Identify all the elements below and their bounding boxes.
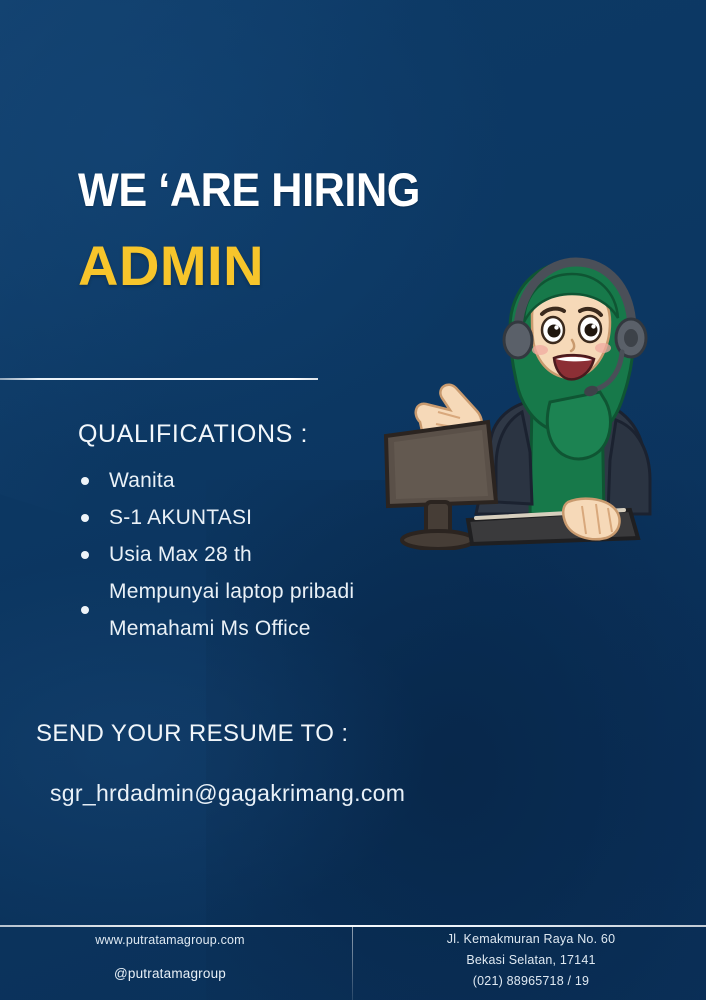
footer-divider <box>0 925 706 927</box>
footer-phone: (021) 88965718 / 19 <box>356 971 706 992</box>
bullet-icon <box>81 477 89 485</box>
resume-email-address[interactable]: sgr_hrdadmin@gagakrimang.com <box>50 780 405 807</box>
qualifications-heading: QUALIFICATIONS : <box>78 420 308 449</box>
footer-address-column: Jl. Kemakmuran Raya No. 60 Bekasi Selata… <box>356 929 706 992</box>
page-title: WE ‘ARE HIRING <box>78 166 420 213</box>
footer-column-divider <box>352 927 353 1000</box>
bullet-icon <box>81 551 89 559</box>
footer-contact-column: www.putratamagroup.com @putratamagroup <box>0 933 340 981</box>
resume-instruction-label: SEND YOUR RESUME TO : <box>36 720 348 748</box>
qualification-text: Memahami Ms Office <box>109 610 478 647</box>
footer-social-handle[interactable]: @putratamagroup <box>0 966 340 981</box>
header-divider <box>0 378 318 380</box>
woman-with-headset-at-computer-icon <box>372 252 672 550</box>
footer-address-line-1: Jl. Kemakmuran Raya No. 60 <box>356 929 706 950</box>
job-role-title: ADMIN <box>78 238 264 294</box>
qualification-text: Mempunyai laptop pribadi <box>109 573 478 610</box>
bullet-icon <box>81 606 89 614</box>
footer-website[interactable]: www.putratamagroup.com <box>0 933 340 947</box>
hiring-poster: WE ‘ARE HIRING ADMIN QUALIFICATIONS : Wa… <box>0 0 706 1000</box>
footer-address-line-2: Bekasi Selatan, 17141 <box>356 950 706 971</box>
list-item: Mempunyai laptop pribadi Memahami Ms Off… <box>78 573 478 647</box>
bullet-icon <box>81 514 89 522</box>
